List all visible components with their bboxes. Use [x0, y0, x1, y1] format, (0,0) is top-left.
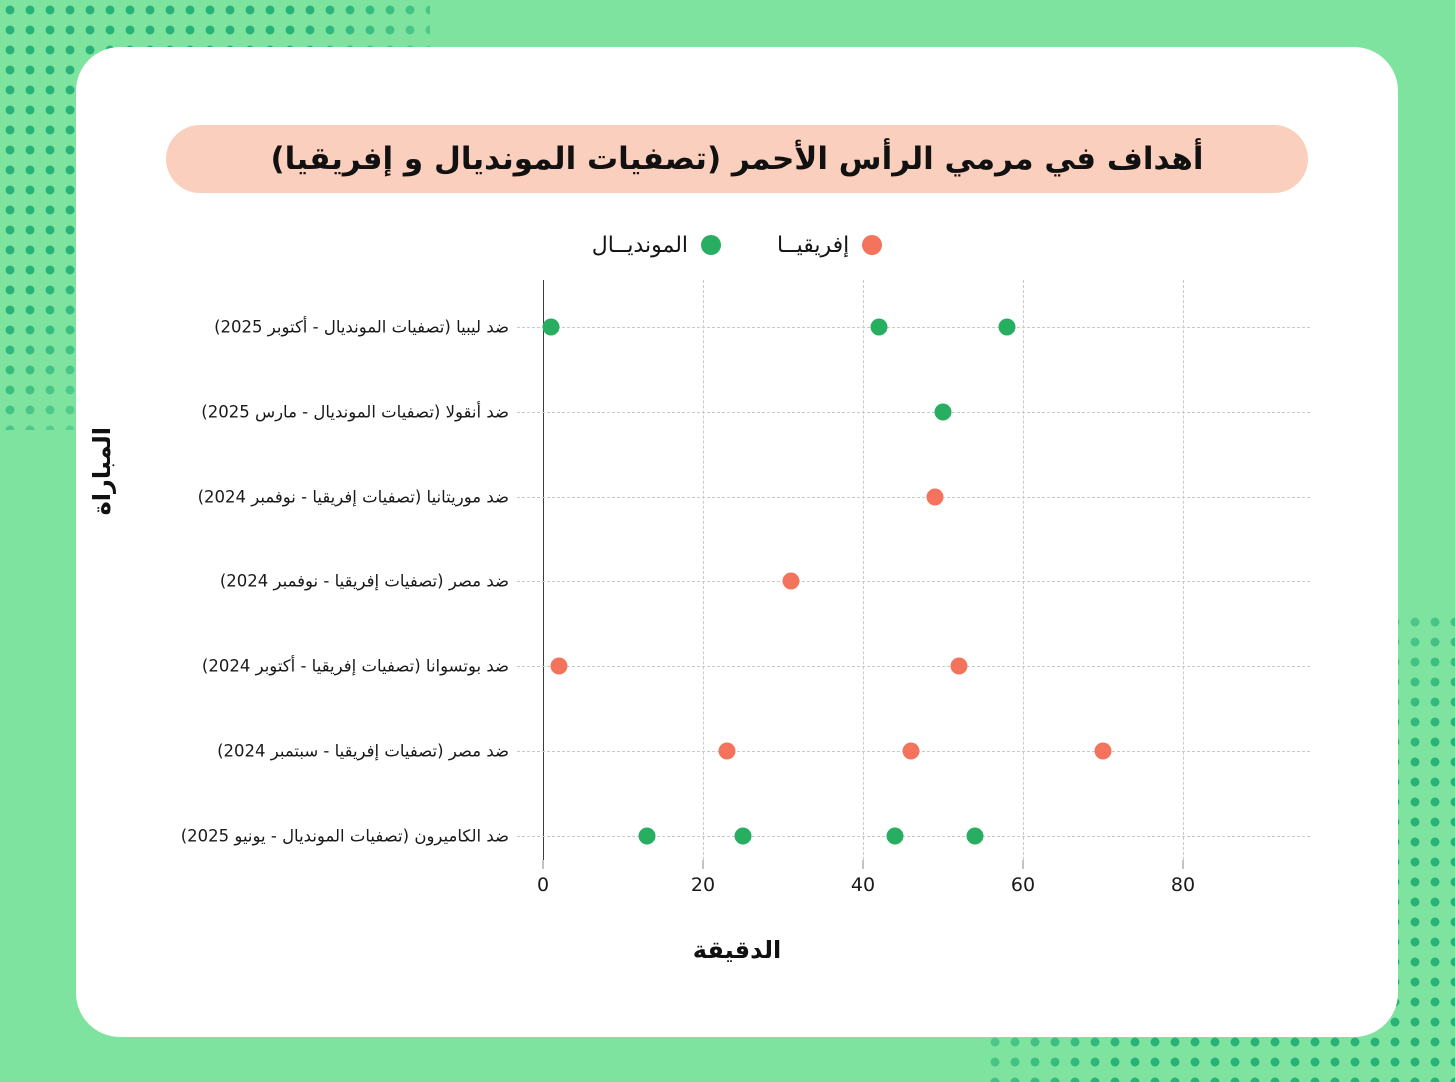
- y-gridline-4: [517, 666, 1310, 667]
- y-axis-tick-label-5: ضد مصر (تصفيات إفريقيا - سبتمبر 2024): [217, 742, 509, 761]
- x-gridline-0: [543, 280, 544, 860]
- data-point[interactable]: [639, 827, 656, 844]
- data-point[interactable]: [935, 403, 952, 420]
- x-tick-mark-80: [1183, 860, 1184, 869]
- x-gridline-20: [703, 280, 704, 860]
- y-axis-title: المباراة: [88, 427, 148, 515]
- y-gridline-6: [517, 836, 1310, 837]
- y-gridline-1: [517, 412, 1310, 413]
- legend-item-0[interactable]: إفريقيــا: [777, 233, 882, 258]
- data-point[interactable]: [871, 319, 888, 336]
- chart-card: أهداف في مرمي الرأس الأحمر (تصفيات المون…: [76, 47, 1398, 1037]
- legend-item-label: المونديــال: [592, 233, 688, 258]
- y-axis-tick-label-6: ضد الكاميرون (تصفيات المونديال - يونيو 2…: [181, 826, 509, 845]
- x-gridline-40: [863, 280, 864, 860]
- data-point[interactable]: [1095, 743, 1112, 760]
- data-point[interactable]: [719, 743, 736, 760]
- data-point[interactable]: [543, 319, 560, 336]
- data-point[interactable]: [783, 573, 800, 590]
- y-axis-tick-label-0: ضد ليبيا (تصفيات المونديال - أكتوبر 2025…: [214, 318, 509, 337]
- legend-item-1[interactable]: المونديــال: [592, 233, 721, 258]
- data-point[interactable]: [967, 827, 984, 844]
- y-gridline-2: [517, 497, 1310, 498]
- y-axis-tick-label-4: ضد بوتسوانا (تصفيات إفريقيا - أكتوبر 202…: [202, 657, 509, 676]
- y-gridline-3: [517, 581, 1310, 582]
- x-axis-title: الدقيقة: [76, 936, 1398, 964]
- x-axis-tick-label-60: 60: [1011, 874, 1035, 896]
- page-title: أهداف في مرمي الرأس الأحمر (تصفيات المون…: [166, 125, 1308, 193]
- x-tick-mark-20: [703, 860, 704, 869]
- data-point[interactable]: [551, 658, 568, 675]
- x-tick-mark-40: [863, 860, 864, 869]
- data-point[interactable]: [999, 319, 1016, 336]
- x-tick-mark-60: [1023, 860, 1024, 869]
- y-axis-tick-label-2: ضد موريتانيا (تصفيات إفريقيا - نوفمبر 20…: [198, 487, 509, 506]
- data-point[interactable]: [927, 488, 944, 505]
- data-point[interactable]: [903, 743, 920, 760]
- x-axis-tick-label-0: 0: [537, 874, 549, 896]
- data-point[interactable]: [951, 658, 968, 675]
- y-axis-tick-label-3: ضد مصر (تصفيات إفريقيا - نوفمبر 2024): [220, 572, 509, 591]
- chart-legend: إفريقيــاالمونديــال: [76, 225, 1398, 265]
- data-point[interactable]: [887, 827, 904, 844]
- legend-swatch-icon: [701, 235, 721, 255]
- legend-item-label: إفريقيــا: [777, 233, 849, 258]
- x-axis-tick-label-80: 80: [1171, 874, 1195, 896]
- data-point[interactable]: [735, 827, 752, 844]
- legend-swatch-icon: [862, 235, 882, 255]
- x-axis-tick-label-40: 40: [851, 874, 875, 896]
- x-axis-tick-label-20: 20: [691, 874, 715, 896]
- x-gridline-80: [1183, 280, 1184, 860]
- y-axis-tick-label-1: ضد أنقولا (تصفيات المونديال - مارس 2025): [201, 402, 509, 421]
- x-gridline-60: [1023, 280, 1024, 860]
- x-tick-mark-0: [543, 860, 544, 869]
- plot-area: [543, 280, 1310, 860]
- y-gridline-0: [517, 327, 1310, 328]
